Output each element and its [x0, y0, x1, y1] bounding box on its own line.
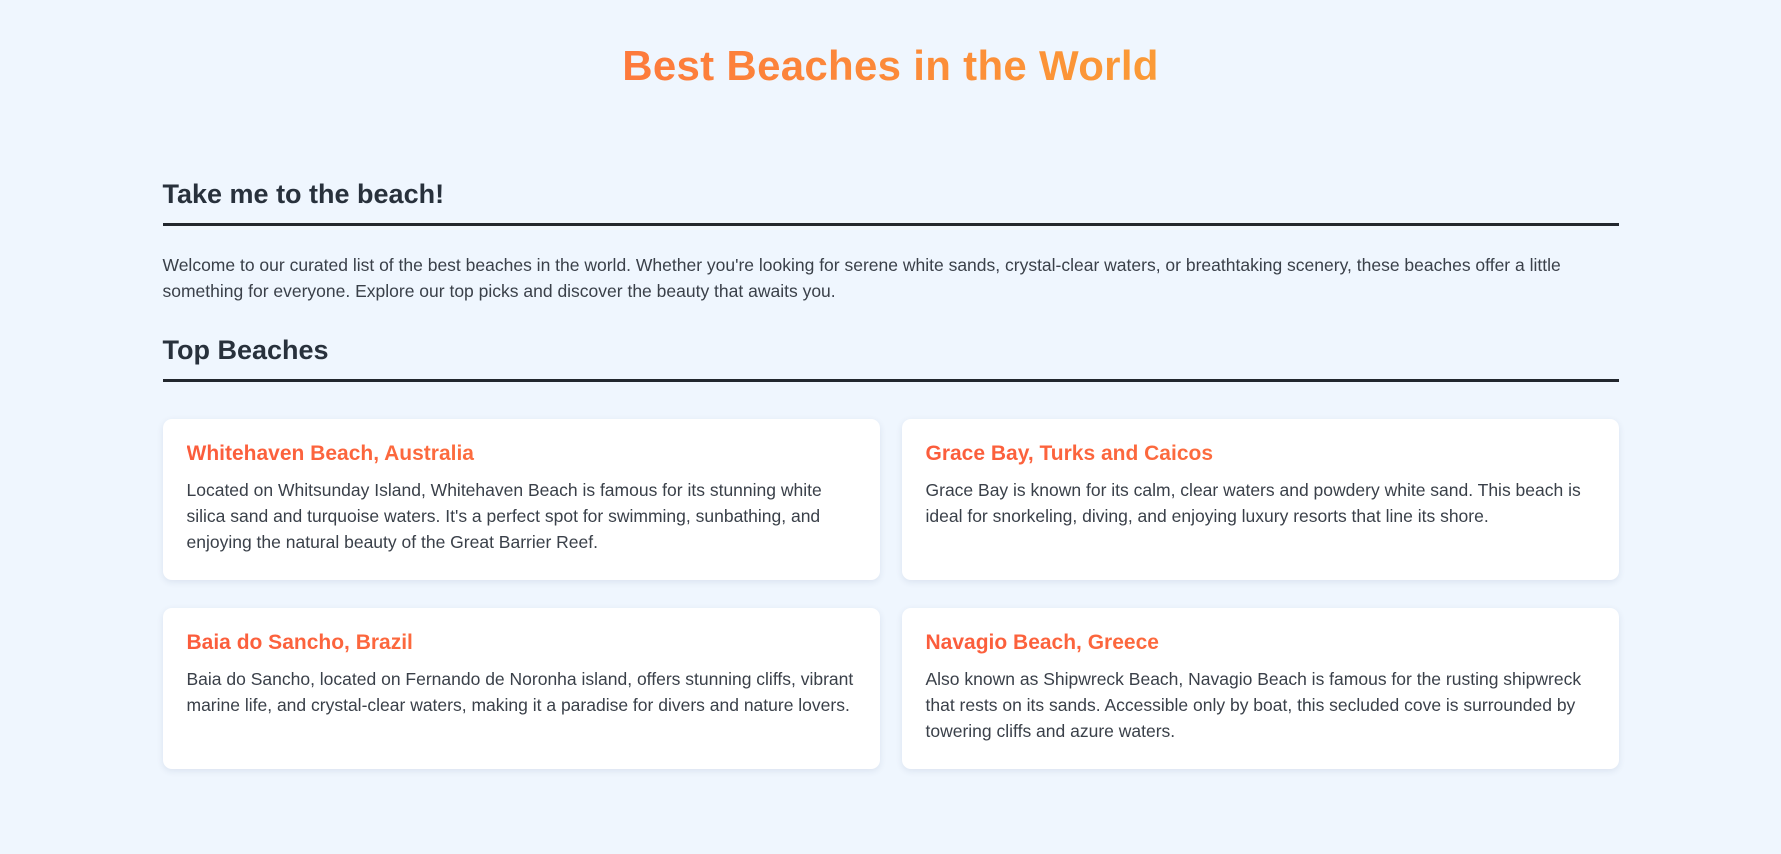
beach-card-description: Baia do Sancho, located on Fernando de N…: [187, 666, 856, 719]
title-spacer: [0, 90, 1781, 178]
beach-card[interactable]: Baia do Sancho, Brazil Baia do Sancho, l…: [163, 608, 880, 769]
beach-card-title: Navagio Beach, Greece: [926, 630, 1595, 656]
beach-card[interactable]: Navagio Beach, Greece Also known as Ship…: [902, 608, 1619, 769]
beach-card-title: Grace Bay, Turks and Caicos: [926, 441, 1595, 467]
beach-card-grid: Whitehaven Beach, Australia Located on W…: [163, 419, 1619, 769]
top-beaches-section: Top Beaches Whitehaven Beach, Australia …: [163, 334, 1619, 768]
page-root: Best Beaches in the World Take me to the…: [0, 0, 1781, 854]
intro-section: Take me to the beach! Welcome to our cur…: [163, 178, 1619, 304]
beach-card[interactable]: Whitehaven Beach, Australia Located on W…: [163, 419, 880, 580]
beach-card-title: Whitehaven Beach, Australia: [187, 441, 856, 467]
content-container: Take me to the beach! Welcome to our cur…: [141, 178, 1641, 768]
beach-card-description: Also known as Shipwreck Beach, Navagio B…: [926, 666, 1595, 745]
intro-paragraph: Welcome to our curated list of the best …: [163, 252, 1619, 305]
beach-card-description: Grace Bay is known for its calm, clear w…: [926, 477, 1595, 530]
beach-card[interactable]: Grace Bay, Turks and Caicos Grace Bay is…: [902, 419, 1619, 580]
top-beaches-heading: Top Beaches: [163, 334, 1619, 381]
intro-heading: Take me to the beach!: [163, 178, 1619, 225]
beach-card-description: Located on Whitsunday Island, Whitehaven…: [187, 477, 856, 556]
beach-card-title: Baia do Sancho, Brazil: [187, 630, 856, 656]
page-title: Best Beaches in the World: [0, 0, 1781, 90]
